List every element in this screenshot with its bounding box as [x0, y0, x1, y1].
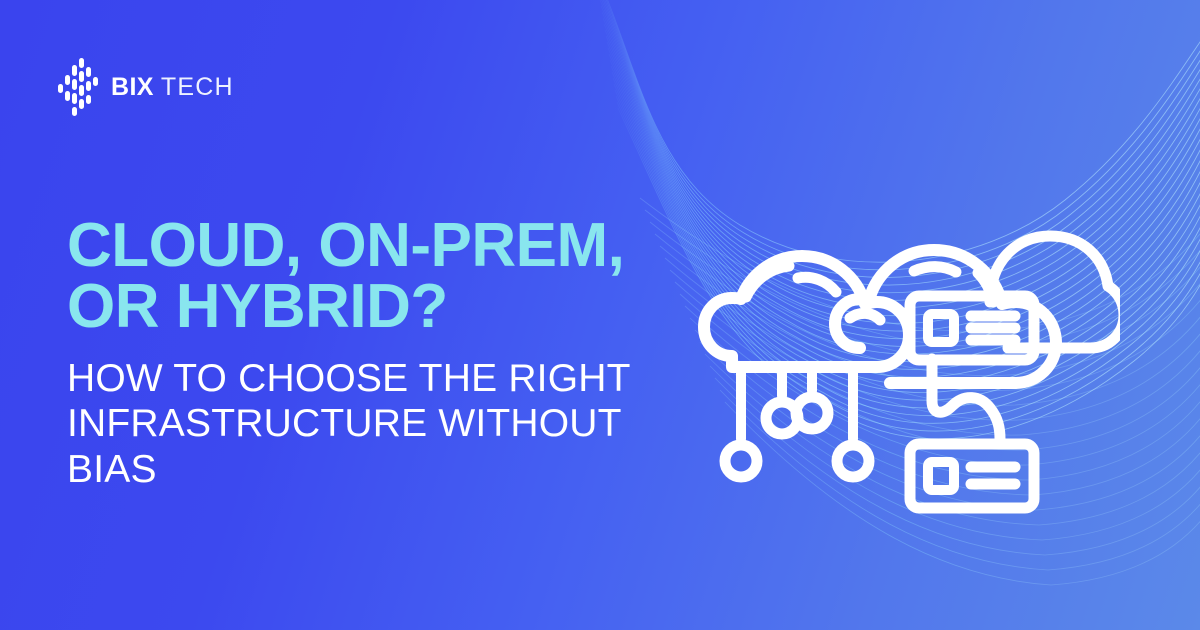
server-link-cable	[932, 359, 1000, 439]
brand-name-light: TECH	[161, 75, 234, 100]
brand-logo[interactable]: BIX TECH	[58, 58, 234, 116]
bix-dot-matrix-mark	[58, 58, 98, 116]
banner-canvas: BIX TECH CLOUD, ON-PREM, OR HYBRID? HOW …	[0, 0, 1200, 630]
connector-node-4	[837, 445, 869, 477]
brand-wordmark: BIX TECH	[111, 75, 234, 100]
page-subtitle: HOW TO CHOOSE THE RIGHT INFRASTRUCTURE W…	[67, 356, 687, 493]
page-title: CLOUD, ON-PREM, OR HYBRID?	[67, 216, 687, 338]
hero-copy-block: CLOUD, ON-PREM, OR HYBRID? HOW TO CHOOSE…	[67, 216, 687, 492]
cloud-hybrid-infrastructure-illustration	[690, 196, 1120, 526]
connector-node-3	[796, 397, 828, 429]
server-bottom	[910, 444, 1034, 508]
connector-node-1	[725, 445, 757, 477]
brand-name-bold: BIX	[111, 75, 154, 100]
